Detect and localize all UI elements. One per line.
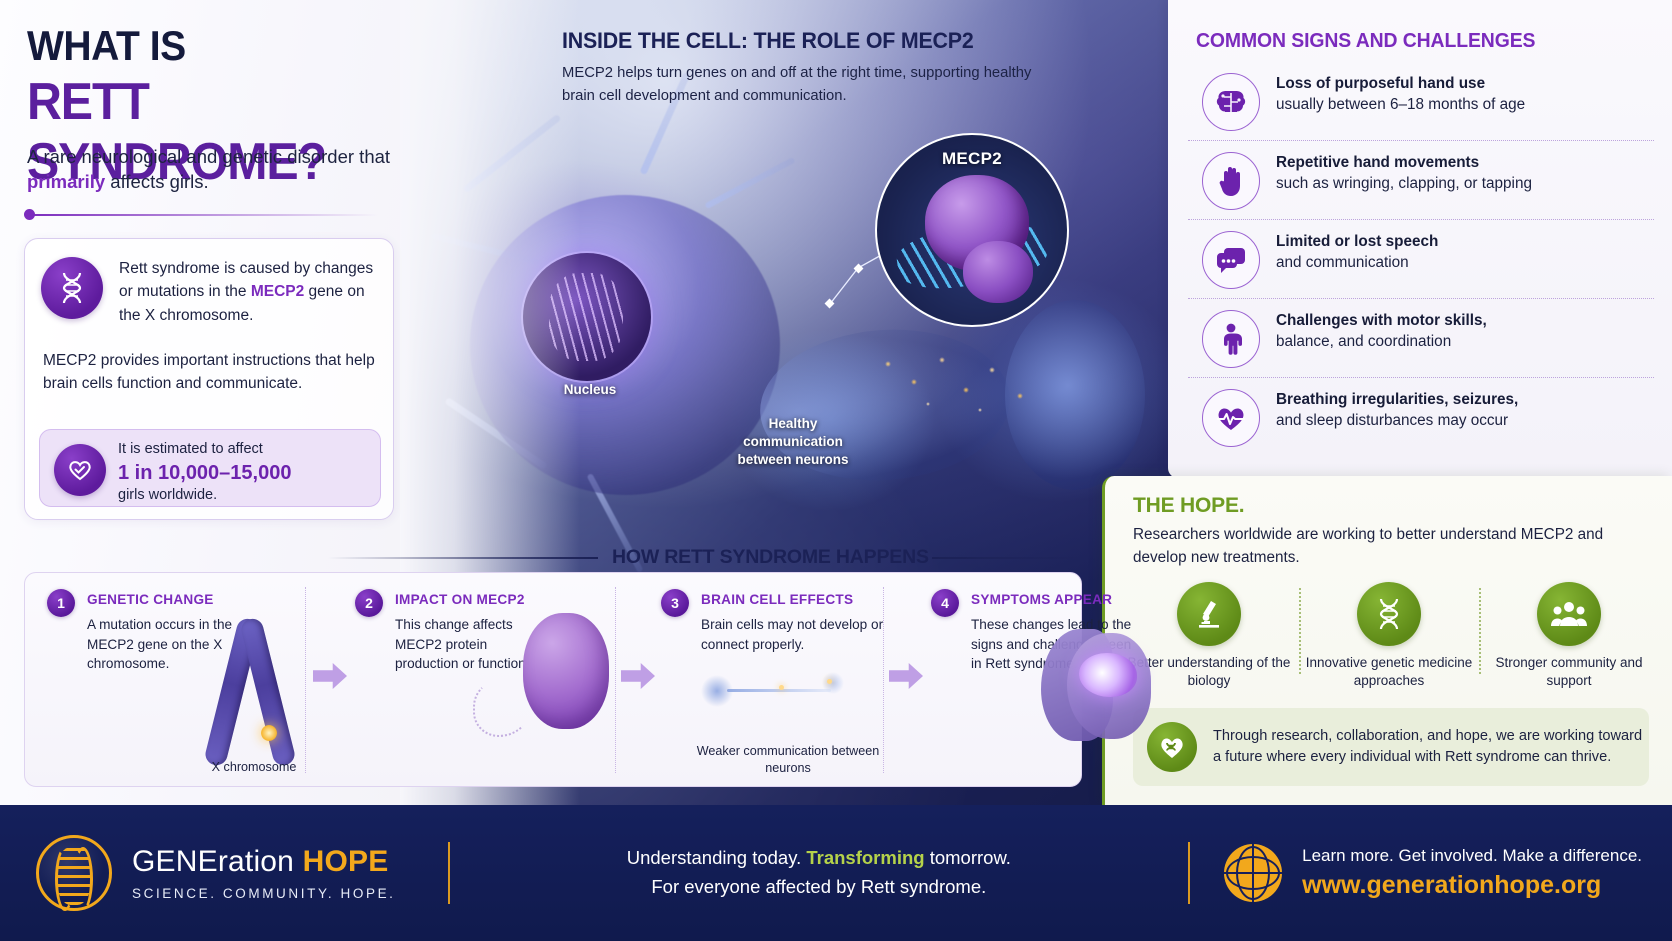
step-4: 4 SYMPTOMS APPEAR These changes lead to … bbox=[931, 573, 1171, 786]
brand-tagline: SCIENCE. COMMUNITY. HOPE. bbox=[132, 886, 396, 901]
brand-text-block: GENEration HOPE SCIENCE. COMMUNITY. HOPE… bbox=[132, 845, 396, 901]
list-item: Challenges with motor skills, balance, a… bbox=[1188, 298, 1654, 377]
footer-cta-text: Learn more. Get involved. Make a differe… bbox=[1302, 844, 1642, 901]
sign-body: and communication bbox=[1276, 252, 1438, 273]
sign-headline: Challenges with motor skills, bbox=[1276, 310, 1487, 331]
community-icon bbox=[1537, 582, 1601, 646]
hope-note-text: Through research, collaboration, and hop… bbox=[1213, 726, 1649, 767]
arrow-icon bbox=[313, 663, 347, 689]
the-hope-panel: THE HOPE. Researchers worldwide are work… bbox=[1102, 476, 1672, 805]
infographic-poster: MECP2 Nucleus Healthy communication betw… bbox=[0, 0, 1672, 941]
prevalence-line3: girls worldwide. bbox=[118, 486, 368, 506]
person-icon bbox=[1202, 310, 1260, 368]
subtitle-post: affects girls. bbox=[105, 171, 209, 192]
step-divider bbox=[883, 587, 884, 773]
footer-divider bbox=[1188, 842, 1190, 904]
heart-icon bbox=[54, 444, 106, 496]
sign-headline: Loss of purposeful hand use bbox=[1276, 73, 1525, 94]
heartbeat-icon bbox=[1202, 389, 1260, 447]
divider-rule bbox=[28, 214, 378, 216]
inside-cell-subtitle: MECP2 helps turn genes on and off at the… bbox=[562, 62, 1032, 108]
footer-message-line1: Understanding today. Transforming tomorr… bbox=[450, 844, 1189, 873]
helix-shape bbox=[57, 847, 91, 905]
prevalence-line2: 1 in 10,000–15,000 bbox=[118, 460, 368, 486]
cause-card: Rett syndrome is caused by changes or mu… bbox=[24, 238, 394, 520]
chromosome-arm bbox=[239, 617, 297, 768]
mecp2-protein-graphic bbox=[523, 613, 609, 729]
step-number: 4 bbox=[931, 589, 959, 617]
x-chromosome-graphic bbox=[199, 621, 303, 763]
inside-cell-title: INSIDE THE CELL: THE ROLE OF MECP2 bbox=[562, 28, 974, 54]
signal-spark bbox=[827, 679, 832, 684]
hope-title-dot: . bbox=[1239, 494, 1245, 517]
common-signs-panel: COMMON SIGNS AND CHALLENGES Loss of purp… bbox=[1168, 0, 1672, 478]
footer-cta-line: Learn more. Get involved. Make a differe… bbox=[1302, 844, 1642, 869]
signs-panel-title: COMMON SIGNS AND CHALLENGES bbox=[1196, 30, 1535, 53]
page-title-line1: WHAT IS bbox=[27, 22, 186, 70]
hope-column: Stronger community and support bbox=[1479, 582, 1659, 690]
speech-bubble-icon bbox=[1202, 231, 1260, 289]
footer-msg-green: Transforming bbox=[806, 847, 924, 868]
brand-gene: GENE bbox=[132, 845, 218, 878]
sign-body: balance, and coordination bbox=[1276, 331, 1487, 352]
step-number: 3 bbox=[661, 589, 689, 617]
brain-glow bbox=[1079, 653, 1137, 697]
girl-head-brain-graphic bbox=[1039, 629, 1157, 749]
footer-bar: GENEration HOPE SCIENCE. COMMUNITY. HOPE… bbox=[0, 805, 1672, 941]
signal-spark bbox=[779, 685, 784, 690]
sign-body: usually between 6–18 months of age bbox=[1276, 94, 1525, 115]
signs-list: Loss of purposeful hand use usually betw… bbox=[1188, 62, 1654, 456]
sign-body: and sleep disturbances may occur bbox=[1276, 410, 1518, 431]
brand-hope: HOPE bbox=[303, 845, 389, 878]
hope-title: THE HOPE. bbox=[1133, 494, 1244, 518]
mecp2-inset-circle: MECP2 bbox=[875, 133, 1069, 327]
prevalence-stat-box: It is estimated to affect 1 in 10,000–15… bbox=[39, 429, 381, 507]
footer-msg-post: tomorrow. bbox=[925, 847, 1011, 868]
nucleus-label: Nucleus bbox=[540, 381, 640, 399]
dna-circle-logo-icon bbox=[36, 835, 112, 911]
prevalence-text: It is estimated to affect 1 in 10,000–15… bbox=[118, 440, 368, 505]
mecp2-inset-label: MECP2 bbox=[877, 149, 1067, 169]
sign-body: such as wringing, clapping, or tapping bbox=[1276, 173, 1532, 194]
step-caption: X chromosome bbox=[199, 759, 309, 776]
hope-caption: Stronger community and support bbox=[1479, 654, 1659, 690]
hope-subtitle: Researchers worldwide are working to bet… bbox=[1133, 524, 1613, 570]
list-item-text: Repetitive hand movements such as wringi… bbox=[1276, 150, 1532, 195]
hope-title-text: THE HOPE bbox=[1133, 494, 1239, 517]
step-divider bbox=[615, 587, 616, 773]
prevalence-line1: It is estimated to affect bbox=[118, 440, 368, 460]
list-item: Limited or lost speech and communication bbox=[1188, 219, 1654, 298]
step-3: 3 BRAIN CELL EFFECTS Brain cells may not… bbox=[661, 573, 911, 786]
footer-divider bbox=[448, 842, 450, 904]
hope-note: Through research, collaboration, and hop… bbox=[1133, 708, 1649, 786]
website-url[interactable]: www.generationhope.org bbox=[1302, 869, 1642, 902]
mecp2-protein-graphic bbox=[963, 241, 1033, 303]
steps-rule-left bbox=[328, 557, 598, 559]
brand-logo[interactable]: GENEration HOPE SCIENCE. COMMUNITY. HOPE… bbox=[36, 835, 396, 911]
step-headline: BRAIN CELL EFFECTS bbox=[701, 592, 853, 607]
page-subtitle: A rare neurological and genetic disorder… bbox=[27, 145, 427, 195]
list-item: Repetitive hand movements such as wringi… bbox=[1188, 140, 1654, 219]
globe-meridian bbox=[1236, 846, 1270, 900]
synapse-signal-dots bbox=[880, 350, 1040, 420]
step-1: 1 GENETIC CHANGE A mutation occurs in th… bbox=[47, 573, 305, 786]
steps-title: HOW RETT SYNDROME HAPPENS bbox=[612, 546, 929, 569]
microscope-icon bbox=[1177, 582, 1241, 646]
dna-icon bbox=[1357, 582, 1421, 646]
hope-caption: Innovative genetic medicine approaches bbox=[1299, 654, 1479, 690]
list-item: Breathing irregularities, seizures, and … bbox=[1188, 377, 1654, 456]
globe-parallel bbox=[1226, 856, 1280, 890]
globe-icon bbox=[1224, 844, 1282, 902]
hope-columns: Better understanding of the biology Inno… bbox=[1119, 582, 1659, 690]
gene-name: MECP2 bbox=[251, 283, 304, 300]
arrow-icon bbox=[621, 663, 655, 689]
step-headline: SYMPTOMS APPEAR bbox=[971, 592, 1112, 607]
list-item-text: Limited or lost speech and communication bbox=[1276, 229, 1438, 274]
subtitle-highlight: primarily bbox=[27, 171, 105, 192]
step-divider bbox=[305, 587, 306, 773]
list-item-text: Loss of purposeful hand use usually betw… bbox=[1276, 71, 1525, 116]
brand-name: GENEration HOPE bbox=[132, 845, 396, 879]
dna-icon bbox=[41, 257, 103, 319]
sign-headline: Repetitive hand movements bbox=[1276, 152, 1532, 173]
step-headline: IMPACT ON MECP2 bbox=[395, 592, 525, 607]
steps-rule-right bbox=[932, 557, 1082, 559]
provides-text: MECP2 provides important instructions th… bbox=[43, 349, 379, 396]
footer-cta[interactable]: Learn more. Get involved. Make a differe… bbox=[1224, 844, 1642, 902]
step-number: 1 bbox=[47, 589, 75, 617]
brain-icon bbox=[1202, 73, 1260, 131]
hand-icon bbox=[1202, 152, 1260, 210]
step-2: 2 IMPACT ON MECP2 This change affects ME… bbox=[355, 573, 605, 786]
footer-msg-pre: Understanding today. bbox=[627, 847, 807, 868]
sign-headline: Limited or lost speech bbox=[1276, 231, 1438, 252]
brand-ration: ration bbox=[218, 845, 303, 878]
mutation-spot bbox=[261, 725, 277, 741]
subtitle-pre: A rare neurological and genetic disorder… bbox=[27, 146, 390, 167]
step-caption: Weaker communication between neurons bbox=[685, 743, 891, 777]
weak-neuron-graphic bbox=[683, 647, 883, 733]
list-item-text: Challenges with motor skills, balance, a… bbox=[1276, 308, 1487, 353]
steps-panel: 1 GENETIC CHANGE A mutation occurs in th… bbox=[24, 572, 1082, 787]
step-number: 2 bbox=[355, 589, 383, 617]
sign-headline: Breathing irregularities, seizures, bbox=[1276, 389, 1518, 410]
footer-message-line2: For everyone affected by Rett syndrome. bbox=[450, 873, 1189, 902]
healthy-communication-label: Healthy communication between neurons bbox=[718, 415, 868, 470]
hope-column: Innovative genetic medicine approaches bbox=[1299, 582, 1479, 690]
list-item-text: Breathing irregularities, seizures, and … bbox=[1276, 387, 1518, 432]
list-item: Loss of purposeful hand use usually betw… bbox=[1188, 62, 1654, 140]
step-headline: GENETIC CHANGE bbox=[87, 592, 214, 607]
footer-message: Understanding today. Transforming tomorr… bbox=[450, 844, 1189, 901]
cause-text: Rett syndrome is caused by changes or mu… bbox=[119, 257, 381, 327]
